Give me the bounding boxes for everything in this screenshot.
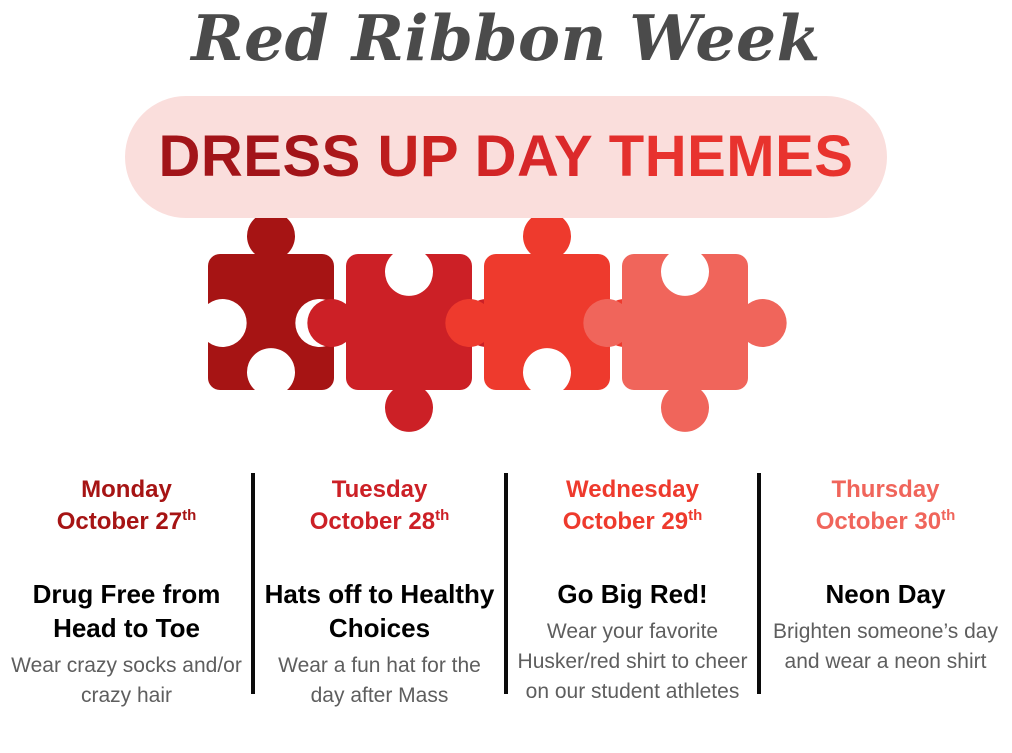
day-heading-monday: Monday October 27th [10, 474, 243, 537]
day-date: October 27 [57, 508, 182, 535]
day-heading-tuesday: Tuesday October 28th [263, 474, 496, 537]
day-name: Tuesday [332, 476, 428, 503]
day-description-wednesday: Wear your favorite Husker/red shirt to c… [516, 617, 749, 706]
day-date-ordinal: th [435, 507, 449, 524]
puzzle-pieces-graphic [196, 218, 836, 444]
day-date: October 30 [816, 508, 941, 535]
banner-label: DRESS UP DAY THEMES [159, 128, 854, 186]
day-heading-thursday: Thursday October 30th [769, 474, 1002, 537]
day-column-thursday: Thursday October 30th Neon Day Brighten … [759, 466, 1012, 753]
puzzle-piece-1 [208, 218, 334, 390]
day-date-ordinal: th [688, 507, 702, 524]
day-column-wednesday: Wednesday October 29th Go Big Red! Wear … [506, 466, 759, 753]
day-name: Thursday [831, 476, 939, 503]
day-date: October 28 [310, 508, 435, 535]
day-description-tuesday: Wear a fun hat for the day after Mass [263, 651, 496, 711]
day-date-ordinal: th [182, 507, 196, 524]
day-theme-tuesday: Hats off to Healthy Choices [263, 578, 496, 646]
dress-up-day-themes-banner: DRESS UP DAY THEMES [125, 96, 887, 218]
day-theme-wednesday: Go Big Red! [516, 578, 749, 612]
day-theme-monday: Drug Free from Head to Toe [10, 578, 243, 646]
day-column-monday: Monday October 27th Drug Free from Head … [0, 466, 253, 753]
day-date: October 29 [563, 508, 688, 535]
day-name: Wednesday [566, 476, 699, 503]
day-date-ordinal: th [941, 507, 955, 524]
day-heading-wednesday: Wednesday October 29th [516, 474, 749, 537]
day-description-monday: Wear crazy socks and/or crazy hair [10, 651, 243, 711]
day-columns: Monday October 27th Drug Free from Head … [0, 466, 1012, 753]
day-description-thursday: Brighten someone’s day and wear a neon s… [769, 617, 1002, 677]
page-title: Red Ribbon Week [0, 4, 1012, 73]
day-theme-thursday: Neon Day [769, 578, 1002, 612]
day-column-tuesday: Tuesday October 28th Hats off to Healthy… [253, 466, 506, 753]
puzzle-piece-4 [583, 254, 786, 432]
day-name: Monday [81, 476, 172, 503]
